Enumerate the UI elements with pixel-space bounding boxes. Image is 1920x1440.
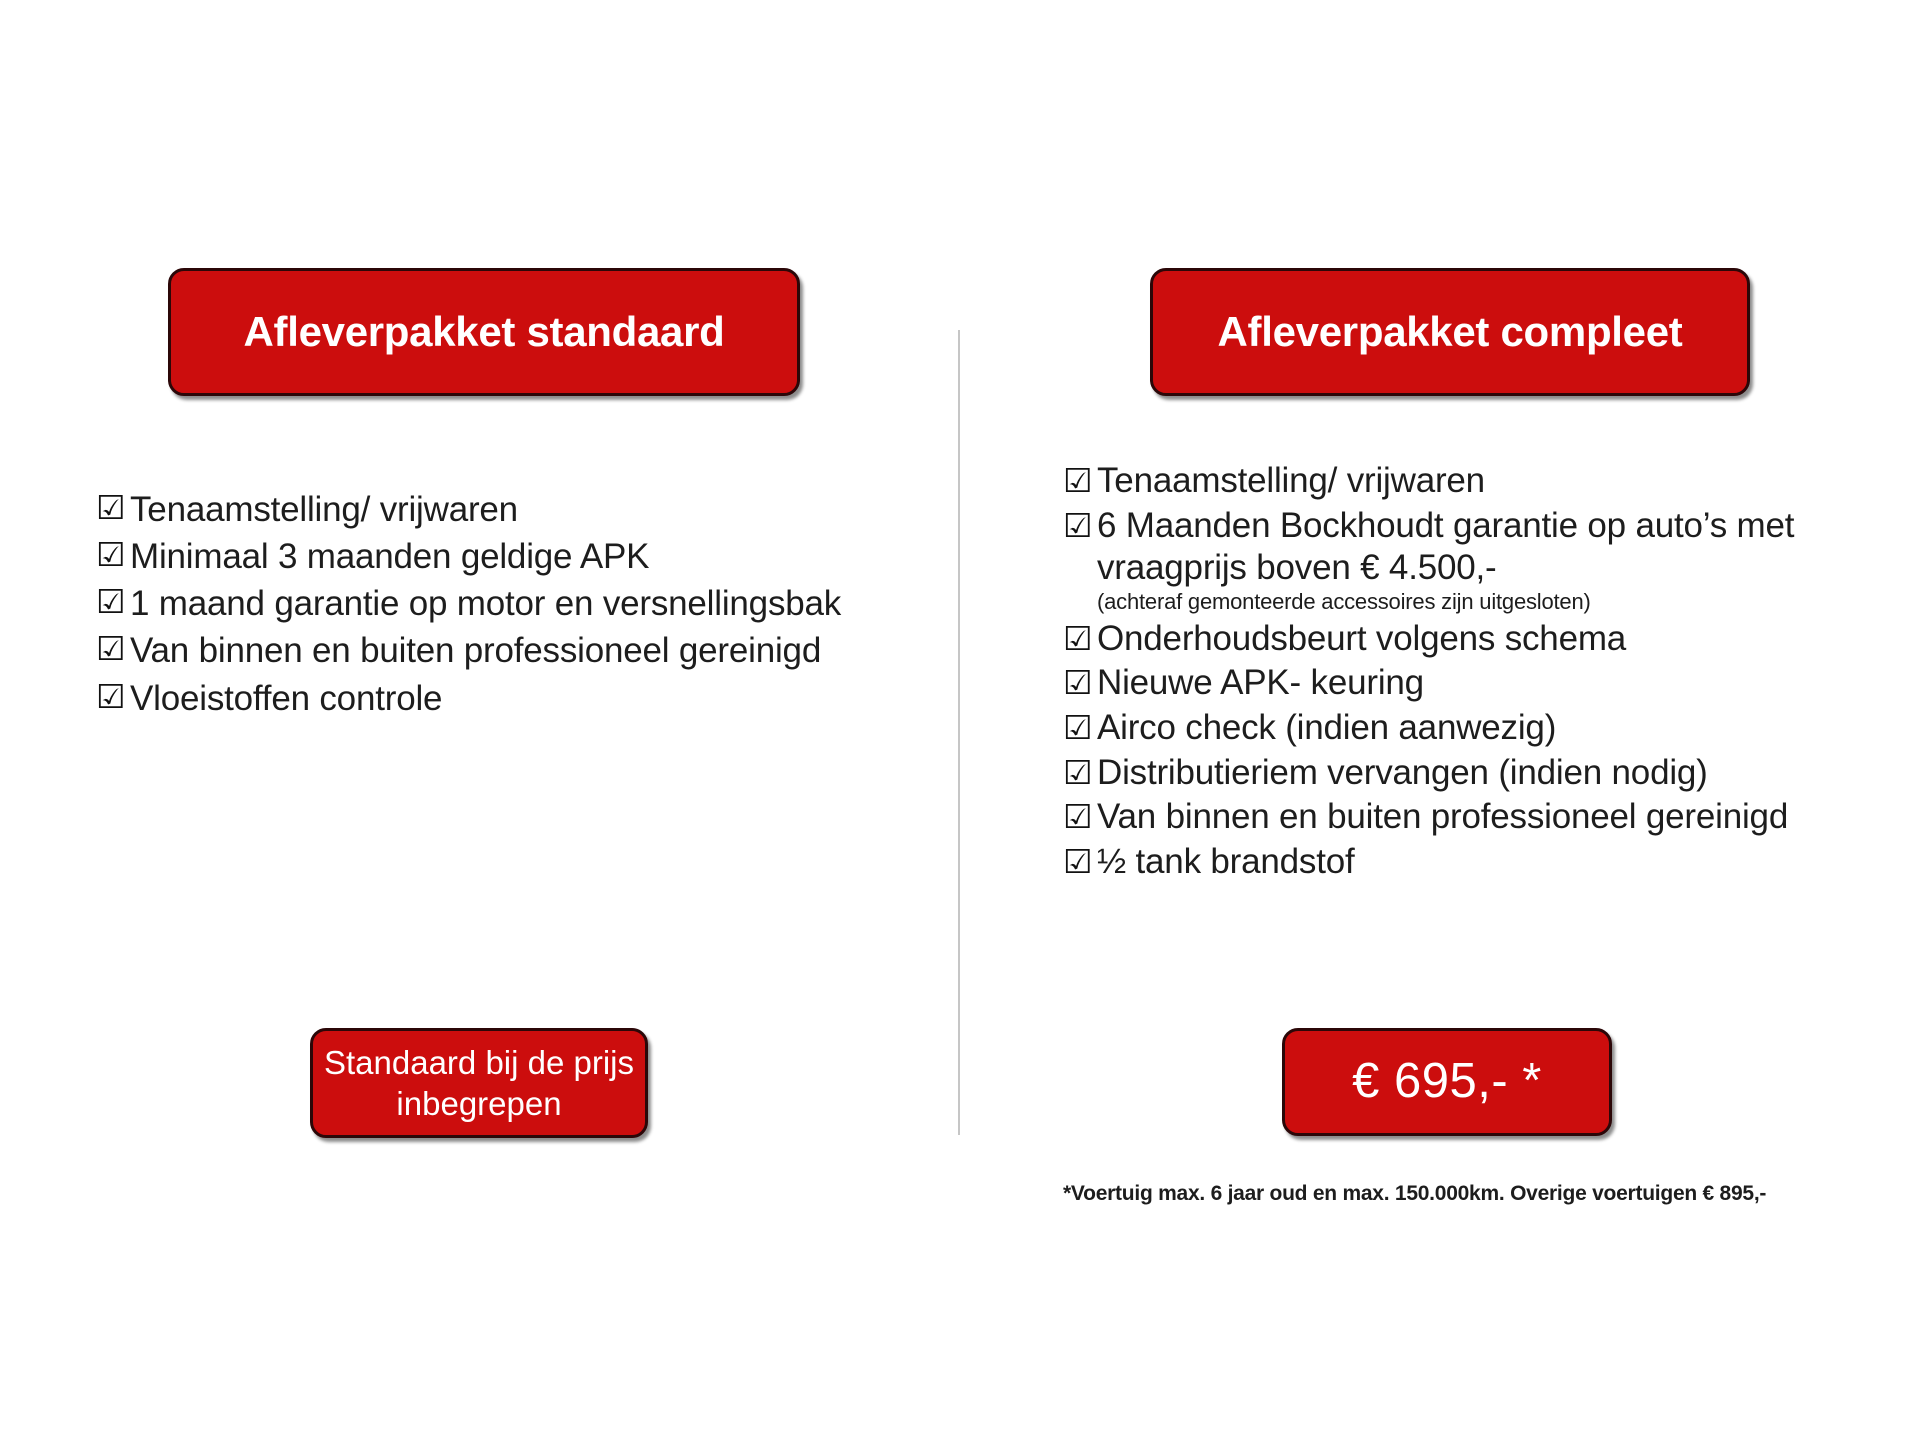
checklist-item: ☑Vloeistoffen controle bbox=[96, 676, 896, 721]
pill-compleet-price: € 695,- * bbox=[1282, 1028, 1612, 1136]
checkbox-checked-icon: ☑ bbox=[1063, 841, 1097, 884]
checklist-compleet: ☑Tenaamstelling/ vrijwaren☑6 Maanden Boc… bbox=[1063, 460, 1920, 886]
checkbox-checked-icon: ☑ bbox=[1063, 752, 1097, 795]
banner-standaard-title: Afleverpakket standaard bbox=[244, 309, 725, 355]
checkbox-checked-icon: ☑ bbox=[1063, 460, 1097, 503]
checklist-item: ☑6 Maanden Bockhoudt garantie op auto’s … bbox=[1063, 505, 1920, 616]
checklist-item: ☑Distributieriem vervangen (indien nodig… bbox=[1063, 752, 1920, 795]
checklist-item-label: Onderhoudsbeurt volgens schema bbox=[1097, 618, 1920, 661]
checkbox-checked-icon: ☑ bbox=[96, 534, 130, 577]
checklist-item: ☑Airco check (indien aanwezig) bbox=[1063, 707, 1920, 750]
checklist-item-label: Airco check (indien aanwezig) bbox=[1097, 707, 1920, 750]
checkbox-checked-icon: ☑ bbox=[96, 581, 130, 624]
pill-standaard-included: Standaard bij de prijs inbegrepen bbox=[310, 1028, 648, 1138]
footnote-compleet: *Voertuig max. 6 jaar oud en max. 150.00… bbox=[1063, 1182, 1920, 1206]
checkbox-checked-icon: ☑ bbox=[96, 628, 130, 671]
checklist-item: ☑Onderhoudsbeurt volgens schema bbox=[1063, 618, 1920, 661]
checklist-item-label: Van binnen en buiten professioneel gerei… bbox=[130, 628, 896, 673]
banner-compleet: Afleverpakket compleet bbox=[1150, 268, 1750, 396]
checkbox-checked-icon: ☑ bbox=[1063, 796, 1097, 839]
checklist-item-label: Van binnen en buiten professioneel gerei… bbox=[1097, 796, 1920, 839]
checkbox-checked-icon: ☑ bbox=[1063, 662, 1097, 705]
checklist-item: ☑Minimaal 3 maanden geldige APK bbox=[96, 534, 896, 579]
checklist-item: ☑1 maand garantie op motor en versnellin… bbox=[96, 581, 896, 626]
checklist-standaard: ☑Tenaamstelling/ vrijwaren☑Minimaal 3 ma… bbox=[96, 487, 896, 723]
checkbox-checked-icon: ☑ bbox=[96, 676, 130, 719]
checklist-item: ☑Tenaamstelling/ vrijwaren bbox=[96, 487, 896, 532]
checklist-item-label: 1 maand garantie op motor en versnelling… bbox=[130, 581, 896, 626]
checkbox-checked-icon: ☑ bbox=[1063, 505, 1097, 548]
checklist-item-label: 6 Maanden Bockhoudt garantie op auto’s m… bbox=[1097, 505, 1920, 616]
checklist-item: ☑Van binnen en buiten professioneel gere… bbox=[1063, 796, 1920, 839]
checklist-item: ☑Nieuwe APK- keuring bbox=[1063, 662, 1920, 705]
pill-compleet-label: € 695,- * bbox=[1352, 1055, 1542, 1109]
checklist-item-label: Vloeistoffen controle bbox=[130, 676, 896, 721]
pill-standaard-label: Standaard bij de prijs inbegrepen bbox=[313, 1042, 645, 1125]
checklist-item: ☑Van binnen en buiten professioneel gere… bbox=[96, 628, 896, 673]
checklist-item: ☑½ tank brandstof bbox=[1063, 841, 1920, 884]
checkbox-checked-icon: ☑ bbox=[96, 487, 130, 530]
column-divider bbox=[958, 330, 960, 1135]
checklist-item-label: Minimaal 3 maanden geldige APK bbox=[130, 534, 896, 579]
checklist-item-label: Tenaamstelling/ vrijwaren bbox=[130, 487, 896, 532]
checklist-item-label: ½ tank brandstof bbox=[1097, 841, 1920, 884]
slide-root: Afleverpakket standaard ☑Tenaamstelling/… bbox=[0, 0, 1920, 1440]
checklist-item: ☑Tenaamstelling/ vrijwaren bbox=[1063, 460, 1920, 503]
banner-standaard: Afleverpakket standaard bbox=[168, 268, 800, 396]
checklist-item-label: Tenaamstelling/ vrijwaren bbox=[1097, 460, 1920, 503]
checkbox-checked-icon: ☑ bbox=[1063, 707, 1097, 750]
checklist-item-label: Nieuwe APK- keuring bbox=[1097, 662, 1920, 705]
checklist-item-note: (achteraf gemonteerde accessoires zijn u… bbox=[1097, 588, 1920, 616]
banner-compleet-title: Afleverpakket compleet bbox=[1218, 309, 1683, 355]
checklist-item-label: Distributieriem vervangen (indien nodig) bbox=[1097, 752, 1920, 795]
checkbox-checked-icon: ☑ bbox=[1063, 618, 1097, 661]
